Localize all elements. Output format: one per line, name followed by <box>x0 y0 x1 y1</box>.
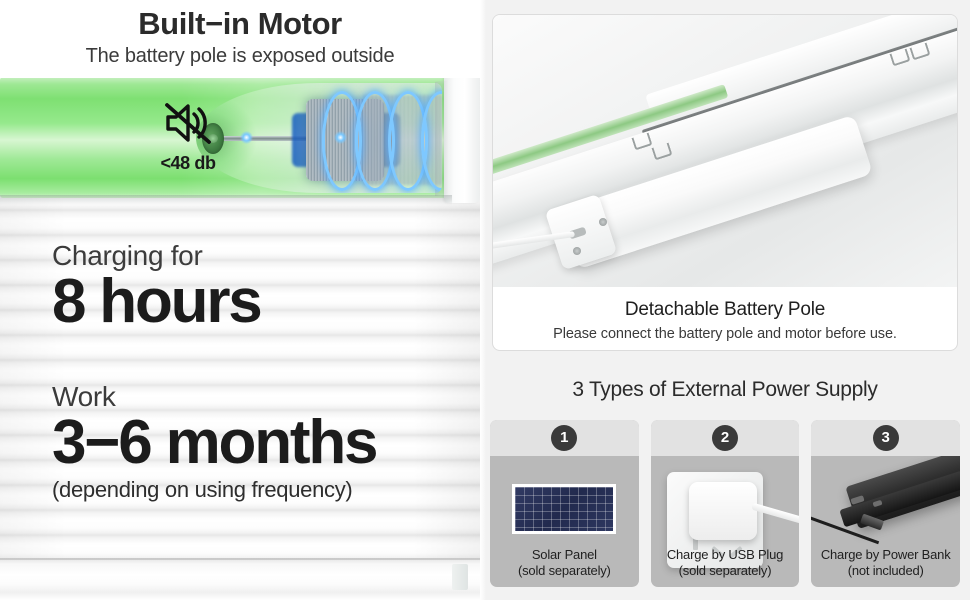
supply-card-name: Charge by Power Bank <box>811 547 960 562</box>
solar-panel-icon <box>512 484 616 534</box>
magnetic-field-helix <box>322 91 442 191</box>
supply-card-body: Charge by Power Bank (not included) <box>811 456 960 587</box>
supply-card-note: (sold separately) <box>651 563 800 578</box>
supply-card-row: 1 Solar Panel (sold separately) 2 <box>490 420 960 587</box>
work-note: (depending on using frequency) <box>52 477 376 503</box>
supply-card-note: (not included) <box>811 563 960 578</box>
supply-card-name: Solar Panel <box>490 547 639 562</box>
tube-shadow <box>0 195 452 205</box>
supply-card-body: Charge by USB Plug (sold separately) <box>651 456 800 587</box>
rail-tab <box>452 564 468 590</box>
coil-icon <box>421 91 442 191</box>
badge-number: 3 <box>873 425 899 451</box>
noise-level-badge: <48 db <box>143 100 233 174</box>
badge-number: 2 <box>712 425 738 451</box>
battery-pole-caption: Detachable Battery Pole Please connect t… <box>493 287 957 342</box>
page-subtitle: The battery pole is exposed outside <box>0 44 480 68</box>
supply-section-heading: 3 Types of External Power Supply <box>480 378 970 402</box>
motor-tube-illustration <box>0 77 480 201</box>
blind-bottom-rail <box>0 558 480 600</box>
work-block: Work 3−6 months (depending on using freq… <box>52 381 376 504</box>
charging-value: 8 hours <box>52 270 376 334</box>
screw-icon <box>573 247 581 255</box>
panel-divider <box>480 0 486 600</box>
noise-level-value: <48 db <box>143 153 233 174</box>
headrail-end-cap <box>444 73 480 203</box>
supply-card-body: Solar Panel (sold separately) <box>490 456 639 587</box>
supply-card-caption: Charge by USB Plug (sold separately) <box>651 547 800 578</box>
battery-pole-photo <box>493 15 957 287</box>
supply-card-name: Charge by USB Plug <box>651 547 800 562</box>
supply-card-usb-plug[interactable]: 2 Charge by USB Plug (sold separately) <box>651 420 800 587</box>
caption-title: Detachable Battery Pole <box>507 299 943 321</box>
supply-card-header: 1 <box>490 420 639 456</box>
badge-number: 1 <box>551 425 577 451</box>
left-panel: Built−in Motor The battery pole is expos… <box>0 0 480 600</box>
supply-card-power-bank[interactable]: 3 Charge by Power Bank (not included) <box>811 420 960 587</box>
page-title: Built−in Motor <box>0 0 480 43</box>
supply-card-solar-panel[interactable]: 1 Solar Panel (sold separately) <box>490 420 639 587</box>
left-heading-block: Built−in Motor The battery pole is expos… <box>0 0 480 78</box>
supply-card-header: 2 <box>651 420 800 456</box>
right-panel: Detachable Battery Pole Please connect t… <box>480 0 970 600</box>
supply-card-note: (sold separately) <box>490 563 639 578</box>
detachable-battery-pole-card: Detachable Battery Pole Please connect t… <box>492 14 958 351</box>
supply-card-header: 3 <box>811 420 960 456</box>
product-feature-graphic: Built−in Motor The battery pole is expos… <box>0 0 970 600</box>
stats-copy-block: Charging for 8 hours Work 3−6 months (de… <box>52 240 376 503</box>
spark-icon <box>240 131 253 144</box>
screw-icon <box>599 218 607 226</box>
usb-wall-plug-icon <box>689 482 757 540</box>
caption-subtitle: Please connect the battery pole and moto… <box>507 326 943 342</box>
work-value: 3−6 months <box>52 411 376 475</box>
mute-speaker-icon <box>162 100 214 146</box>
supply-card-caption: Solar Panel (sold separately) <box>490 547 639 578</box>
supply-card-caption: Charge by Power Bank (not included) <box>811 547 960 578</box>
